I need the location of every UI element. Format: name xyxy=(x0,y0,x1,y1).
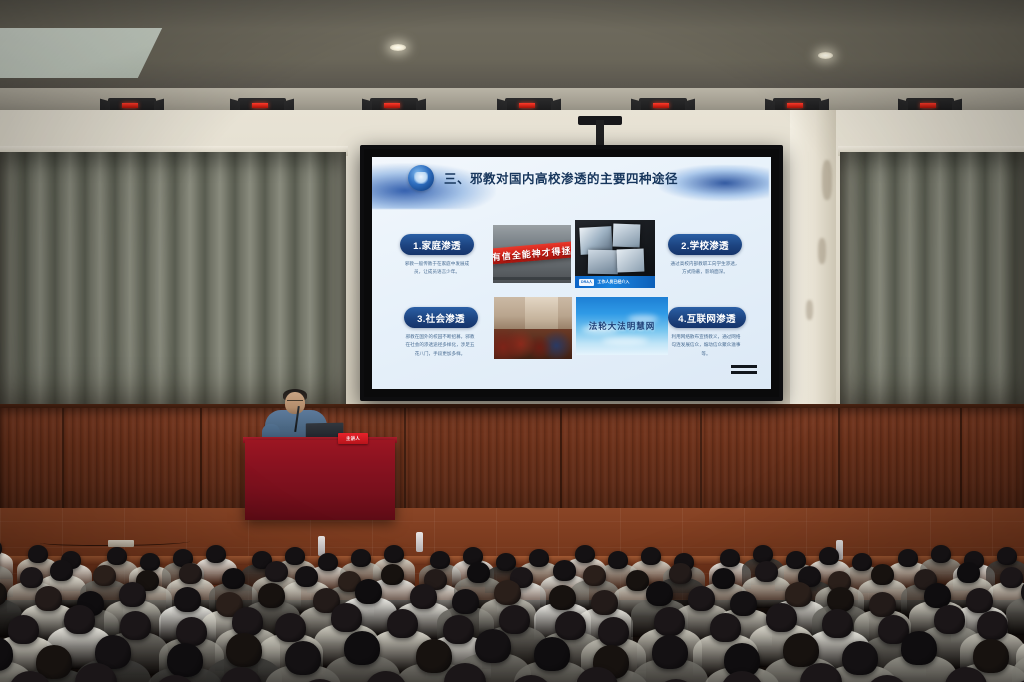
audience-member-head xyxy=(344,631,380,665)
wainscot-seam xyxy=(960,408,962,514)
photo-red-banner: 只有信全能神才得拯救 xyxy=(493,225,571,283)
audience-member-head xyxy=(842,641,878,675)
audience-member-head xyxy=(555,611,586,640)
audience-member-head xyxy=(583,565,606,586)
audience-member-head xyxy=(1000,567,1023,588)
audience-member-head xyxy=(275,613,306,642)
audience-member-head xyxy=(669,563,692,584)
audience-member-head xyxy=(318,553,338,571)
audience-member-head xyxy=(819,547,839,565)
audience-member-head xyxy=(783,633,819,667)
banner-strip: 只有信全能神才得拯救 xyxy=(493,241,571,265)
audience-member-head xyxy=(641,547,661,565)
wainscot-seam xyxy=(62,408,64,514)
audience-member-head xyxy=(295,566,318,587)
section-label-3: 3.社会渗透 xyxy=(417,311,465,325)
audience-member-head xyxy=(381,564,404,585)
audience-member-head xyxy=(226,633,262,667)
audience-member-head xyxy=(973,639,1009,673)
audience-member-head xyxy=(549,585,576,610)
audience-member-head xyxy=(654,607,685,636)
audience-member-head xyxy=(467,562,490,583)
audience-member-head xyxy=(331,603,362,632)
audience-member-head xyxy=(529,549,549,567)
presenter-nameplate: 主讲人 xyxy=(338,433,368,444)
water-bottle xyxy=(416,532,423,552)
audience-member-head xyxy=(20,567,43,588)
stage-curtain-right xyxy=(840,152,1024,424)
audience-member-head xyxy=(410,584,437,609)
audience-member-head xyxy=(64,605,95,634)
section-pill-2: 2.学校渗透 xyxy=(668,234,742,255)
section-label-4: 4.互联网渗透 xyxy=(678,311,736,325)
audience-member-head xyxy=(966,588,993,613)
audience-member-head xyxy=(35,586,62,611)
audience-member-head xyxy=(206,545,226,563)
audience-member-head xyxy=(720,549,740,567)
audience-member-head xyxy=(475,629,511,663)
section-label-2: 2.学校渗透 xyxy=(681,238,729,252)
ceiling xyxy=(0,0,1024,96)
audience-member-head xyxy=(755,561,778,582)
photo-news-broadcast: DRA人 工作人员已经介入 xyxy=(575,220,655,288)
audience-member-head xyxy=(167,643,203,677)
audience-member-head xyxy=(107,547,127,565)
audience-member-head xyxy=(730,591,757,616)
wainscot-seam xyxy=(700,408,702,514)
audience-member-head xyxy=(496,553,516,571)
presentation-screen[interactable]: 三、邪教对国内高校渗透的主要四种途径 1.家庭渗透 邪教一般传教于在家庭中发展成… xyxy=(360,145,783,401)
audience-member-head xyxy=(591,590,618,615)
audience-member-head xyxy=(93,565,116,586)
wall-pillar xyxy=(790,110,836,410)
audience-member-head xyxy=(852,553,872,571)
presenter-table xyxy=(245,440,395,520)
audience-member-head xyxy=(901,631,937,665)
sky-overlay-text: 法轮大法明慧网 xyxy=(589,320,656,332)
audience-member-head xyxy=(387,609,418,638)
slide-content: 三、邪教对国内高校渗透的主要四种途径 1.家庭渗透 邪教一般传教于在家庭中发展成… xyxy=(372,157,771,389)
audience-member-head xyxy=(452,589,479,614)
section-blurb-1: 邪教一般传教于在家庭中发展成员，让成员语言少年。 xyxy=(402,260,472,277)
slide-title: 三、邪教对国内高校渗透的主要四种途径 xyxy=(444,168,678,187)
audience-member-head xyxy=(931,545,951,563)
audience-member-head xyxy=(553,560,576,581)
audience-member-head xyxy=(710,613,741,642)
section-blurb-4: 利用网络散布宣扬教义，通过网络勾连发展信众，煽动信众聚众滋事等。 xyxy=(670,333,742,358)
audience-member-head xyxy=(285,547,305,565)
section-blurb-3: 邪教在国外的校园不断招募，邪教在社会的渗透途径多样化，涉足五花八门，手段更加多样… xyxy=(404,333,476,358)
photo-crowd-gathering xyxy=(494,297,572,359)
audience-member-head xyxy=(222,568,245,589)
audience-member-head xyxy=(575,545,595,563)
lecture-hall-scene: 三、邪教对国内高校渗透的主要四种途径 1.家庭渗透 邪教一般传教于在家庭中发展成… xyxy=(0,0,1024,682)
audience-member-head xyxy=(232,607,263,636)
nameplate-text: 主讲人 xyxy=(346,436,360,442)
audience-member-head xyxy=(957,562,980,583)
wall-stain xyxy=(806,300,813,320)
audience-member-head xyxy=(494,580,521,605)
audience-member-head xyxy=(174,587,201,612)
wall-stain xyxy=(822,160,832,200)
audience-member-head xyxy=(598,617,629,646)
audience-member-head xyxy=(443,615,474,644)
audience-member-head xyxy=(416,639,452,673)
audience-member-head xyxy=(28,545,48,563)
audience-member-head xyxy=(50,560,73,581)
wainscot-seam xyxy=(560,408,562,514)
news-tag: DRA人 xyxy=(579,279,594,286)
section-label-1: 1.家庭渗透 xyxy=(413,238,461,252)
recessed-ceiling-light xyxy=(390,44,406,51)
audience-member-head xyxy=(712,568,735,589)
presenter-glasses xyxy=(287,400,303,405)
stage-curtain-left xyxy=(0,152,346,424)
section-pill-1: 1.家庭渗透 xyxy=(400,234,474,255)
audience-member-head xyxy=(8,615,39,644)
audience-member-head xyxy=(351,549,371,567)
audience-member-head xyxy=(997,547,1017,565)
wainscot-seam xyxy=(404,408,406,514)
section-pill-4: 4.互联网渗透 xyxy=(668,307,746,328)
audience-member-head xyxy=(119,582,146,607)
audience-member-head xyxy=(265,561,288,582)
audience-member-head xyxy=(688,586,715,611)
audience-member-head xyxy=(176,617,207,646)
audience-member-head xyxy=(499,605,530,634)
police-emblem-icon xyxy=(408,165,434,191)
section-blurb-2: 通过高校内部教职工向学生渗透，方式隐蔽，影响面深。 xyxy=(670,260,740,277)
screen-ceiling-mount xyxy=(596,120,604,148)
wall-stain xyxy=(818,238,826,264)
audience-member-head xyxy=(384,545,404,563)
audience-member-head xyxy=(766,603,797,632)
recessed-ceiling-light xyxy=(818,52,833,59)
audience-member-head xyxy=(871,564,894,585)
audience-member-head xyxy=(785,582,812,607)
audience-member-head xyxy=(355,579,382,604)
audience-member-head xyxy=(822,609,853,638)
ceiling-panel xyxy=(0,28,162,78)
banner-text: 只有信全能神才得拯救 xyxy=(493,242,571,264)
wainscot-panel xyxy=(0,408,1024,514)
equals-mark-icon xyxy=(731,365,757,377)
audience-member-head xyxy=(140,553,160,571)
news-lower-third: DRA人 工作人员已经介入 xyxy=(575,276,655,288)
photo-blue-sky-text: 法轮大法明慧网 xyxy=(576,297,668,355)
audience-member-head xyxy=(534,637,570,671)
audience-member-head xyxy=(898,549,918,567)
wainscot-seam xyxy=(200,408,202,514)
news-headline: 工作人员已经介入 xyxy=(597,279,629,285)
audience-member-head xyxy=(652,635,688,669)
audience-member-head xyxy=(179,563,202,584)
audience-seating xyxy=(0,520,1024,682)
audience-member-head xyxy=(934,605,965,634)
audience-member-head xyxy=(869,592,896,617)
audience-member-head xyxy=(285,641,321,675)
wainscot-seam xyxy=(838,408,840,514)
audience-member-head xyxy=(120,611,151,640)
audience-member-head xyxy=(626,570,649,591)
audience-member-head xyxy=(258,583,285,608)
audience-member-head xyxy=(977,611,1008,640)
audience-member-head xyxy=(646,581,673,606)
section-pill-3: 3.社会渗透 xyxy=(404,307,478,328)
audience-member-head xyxy=(430,551,450,569)
audience-member-head xyxy=(608,551,628,569)
audience-member-head xyxy=(827,587,854,612)
